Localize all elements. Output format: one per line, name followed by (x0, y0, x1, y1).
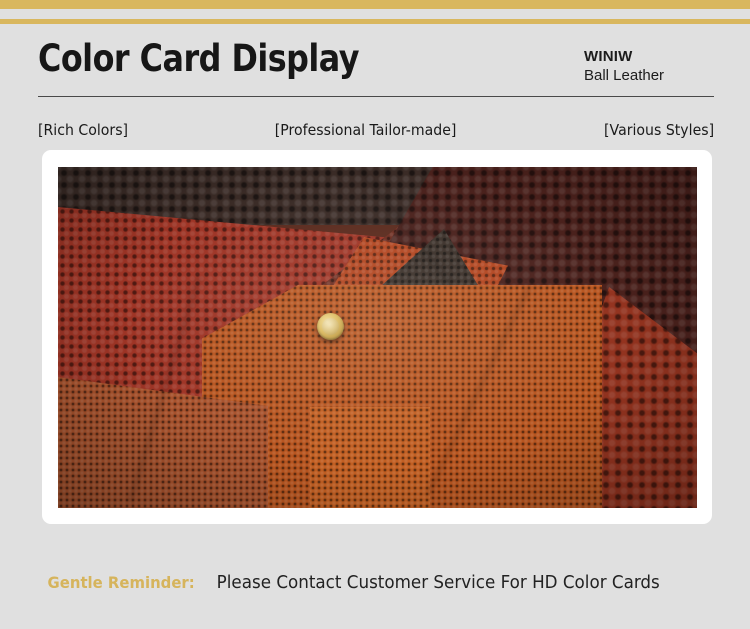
header-divider (38, 96, 714, 97)
gold-snap-button-inner (322, 318, 339, 335)
brand-block: WINIW Ball Leather (584, 48, 714, 85)
gentle-reminder-text: Please Contact Customer Service For HD C… (217, 572, 660, 593)
color-card-photo-card (42, 150, 712, 524)
brand-name: WINIW (584, 48, 714, 66)
top-accent-bar-thick (0, 0, 750, 9)
brand-subtitle: Ball Leather (584, 66, 714, 85)
top-accent-bar-gap (0, 9, 750, 19)
page-title: Color Card Display (38, 36, 359, 82)
tagline-professional-tailor-made: [Professional Tailor-made] (275, 121, 457, 139)
page-header: Color Card Display WINIW Ball Leather (0, 24, 750, 100)
tagline-various-styles: [Various Styles] (604, 121, 714, 139)
gentle-reminder-label: Gentle Reminder: (48, 573, 195, 592)
tagline-rich-colors: [Rich Colors] (38, 121, 128, 139)
gentle-reminder: Gentle Reminder: Please Contact Customer… (42, 572, 677, 598)
gold-snap-button-icon (317, 313, 344, 340)
leather-swatch-photo (58, 167, 697, 508)
swatch-bright-orange-bottom (310, 407, 430, 508)
tagline-row: [Rich Colors] [Professional Tailor-made]… (38, 118, 714, 142)
